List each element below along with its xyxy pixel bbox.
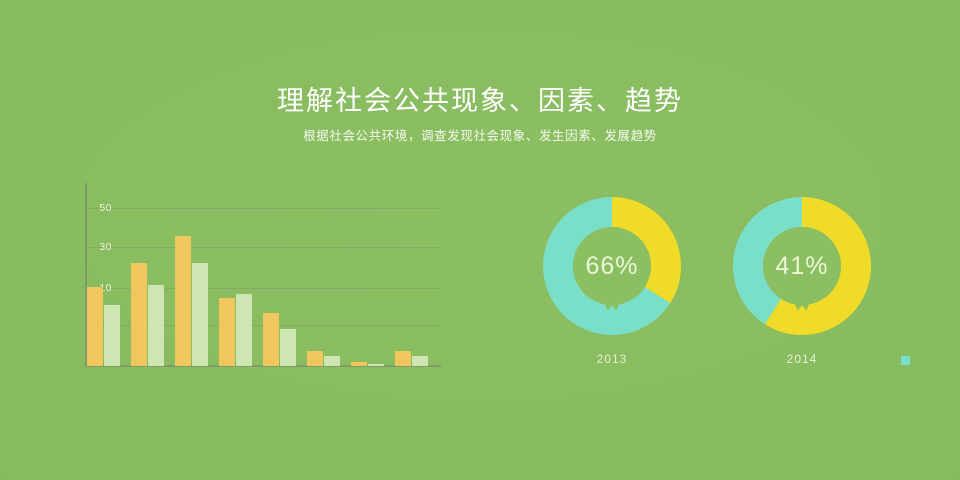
donut-chart-2014[interactable]: 41% 2014: [712, 196, 892, 376]
donut-2014-graphic: [732, 196, 872, 336]
bar-series2-4[interactable]: [236, 294, 252, 366]
page-subtitle: 根据社会公共环境，调查发现社会现象、发生因素、发展趋势: [0, 128, 960, 144]
bar-plot-area: [87, 183, 441, 366]
bar-series2-1[interactable]: [104, 305, 120, 366]
header: 理解社会公共现象、因素、趋势 根据社会公共环境，调查发现社会现象、发生因素、发展…: [0, 84, 960, 144]
slide-canvas: 理解社会公共现象、因素、趋势 根据社会公共环境，调查发现社会现象、发生因素、发展…: [0, 0, 960, 480]
bar-series2-6[interactable]: [324, 356, 340, 366]
bar-series2-3[interactable]: [192, 263, 208, 366]
donut-chart-2013[interactable]: 66% 2013: [522, 196, 702, 376]
bar-series1-3[interactable]: [175, 236, 191, 366]
bar-series2-8[interactable]: [412, 356, 428, 366]
bar-series1-2[interactable]: [131, 263, 147, 366]
bar-series1-5[interactable]: [263, 313, 279, 366]
donut-2014-year-label: 2014: [712, 352, 892, 366]
bar-chart: 50 30 10 0: [58, 178, 448, 374]
bar-series1-1[interactable]: [87, 287, 103, 366]
bar-series1-7[interactable]: [351, 362, 367, 366]
bar-series1-4[interactable]: [219, 298, 235, 366]
donut-2013-graphic: [542, 196, 682, 336]
bar-series2-2[interactable]: [148, 285, 164, 366]
donut-2013-year-label: 2013: [522, 352, 702, 366]
page-title: 理解社会公共现象、因素、趋势: [0, 84, 960, 118]
bar-series2-7[interactable]: [368, 364, 384, 366]
bar-series1-6[interactable]: [307, 351, 323, 366]
bar-series2-5[interactable]: [280, 329, 296, 366]
legend-color-marker[interactable]: [901, 356, 910, 365]
bar-series1-8[interactable]: [395, 351, 411, 366]
